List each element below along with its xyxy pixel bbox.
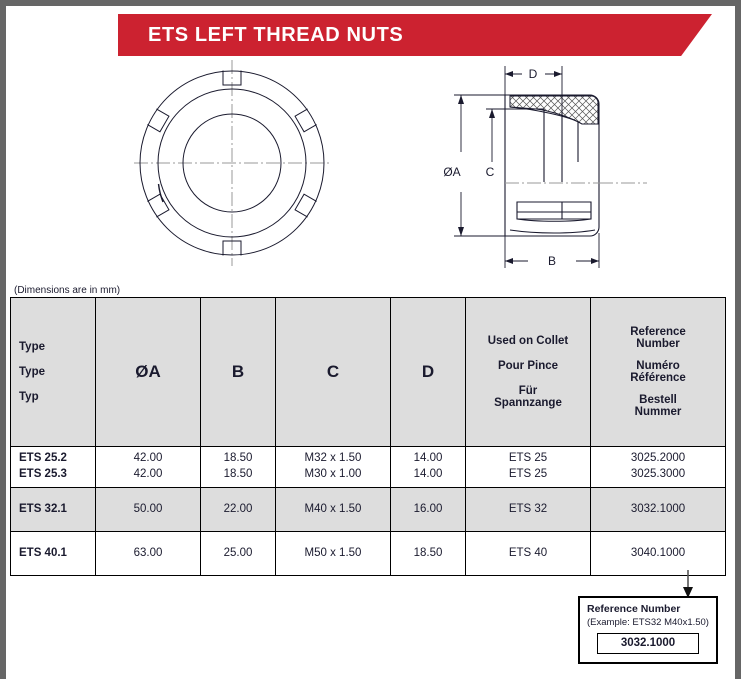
cell-d: 16.00 bbox=[391, 488, 466, 532]
reference-number-callout: Reference Number (Example: ETS32 M40x1.5… bbox=[578, 596, 718, 664]
datasheet-page: ETS LEFT THREAD NUTS bbox=[0, 0, 741, 679]
cell-used-on-collet: ETS 40 bbox=[466, 532, 591, 576]
cell-type: ETS 40.1 bbox=[11, 532, 96, 576]
cell-b: 25.00 bbox=[201, 532, 276, 576]
column-header-c: C bbox=[276, 298, 391, 447]
column-header-b: B bbox=[201, 298, 276, 447]
page-title: ETS LEFT THREAD NUTS bbox=[148, 14, 403, 56]
column-header-diameter-a: ØA bbox=[96, 298, 201, 447]
table-row: ETS 32.1 50.00 22.00 M40 x 1.50 16.00 ET… bbox=[11, 488, 726, 532]
cell-reference-number: 3025.2000 3025.3000 bbox=[591, 447, 726, 488]
cell-c: M40 x 1.50 bbox=[276, 488, 391, 532]
cell-reference-number: 3040.1000 bbox=[591, 532, 726, 576]
cell-used-on-collet: ETS 25 ETS 25 bbox=[466, 447, 591, 488]
title-banner: ETS LEFT THREAD NUTS bbox=[118, 14, 712, 56]
dimension-label-diameter-a: ØA bbox=[443, 165, 460, 179]
column-header-type: Type Type Typ bbox=[11, 298, 96, 447]
table-row: ETS 40.1 63.00 25.00 M50 x 1.50 18.50 ET… bbox=[11, 532, 726, 576]
cell-diameter-a: 42.00 42.00 bbox=[96, 447, 201, 488]
specification-table: Type Type Typ ØA B C D Used on Collet Po… bbox=[10, 297, 726, 576]
cell-c: M50 x 1.50 bbox=[276, 532, 391, 576]
table-header-row: Type Type Typ ØA B C D Used on Collet Po… bbox=[11, 298, 726, 447]
cell-type: ETS 25.2 ETS 25.3 bbox=[11, 447, 96, 488]
table-row: ETS 25.2 ETS 25.3 42.00 42.00 18.50 18.5… bbox=[11, 447, 726, 488]
dimension-label-d: D bbox=[529, 67, 538, 81]
cell-b: 22.00 bbox=[201, 488, 276, 532]
cell-d: 14.00 14.00 bbox=[391, 447, 466, 488]
cell-reference-number: 3032.1000 bbox=[591, 488, 726, 532]
dimension-label-b: B bbox=[548, 254, 556, 268]
callout-value: 3032.1000 bbox=[597, 633, 699, 654]
dimension-label-c: C bbox=[486, 165, 495, 179]
drawings-area: D ØA bbox=[0, 56, 741, 286]
cell-d: 18.50 bbox=[391, 532, 466, 576]
cell-used-on-collet: ETS 32 bbox=[466, 488, 591, 532]
cell-diameter-a: 50.00 bbox=[96, 488, 201, 532]
front-view-nut bbox=[132, 56, 332, 271]
page-frame-top bbox=[0, 0, 741, 6]
cell-diameter-a: 63.00 bbox=[96, 532, 201, 576]
cell-c: M32 x 1.50 M30 x 1.00 bbox=[276, 447, 391, 488]
cell-b: 18.50 18.50 bbox=[201, 447, 276, 488]
side-section-view-nut: D ØA bbox=[432, 52, 662, 284]
column-header-used-on-collet: Used on Collet Pour Pince Für Spannzange bbox=[466, 298, 591, 447]
column-header-d: D bbox=[391, 298, 466, 447]
column-header-reference-number: Reference Number Numéro Référence Bestel… bbox=[591, 298, 726, 447]
cell-type: ETS 32.1 bbox=[11, 488, 96, 532]
callout-title: Reference Number bbox=[587, 603, 709, 616]
callout-example: (Example: ETS32 M40x1.50) bbox=[587, 617, 709, 629]
dimensions-note: (Dimensions are in mm) bbox=[14, 285, 120, 296]
